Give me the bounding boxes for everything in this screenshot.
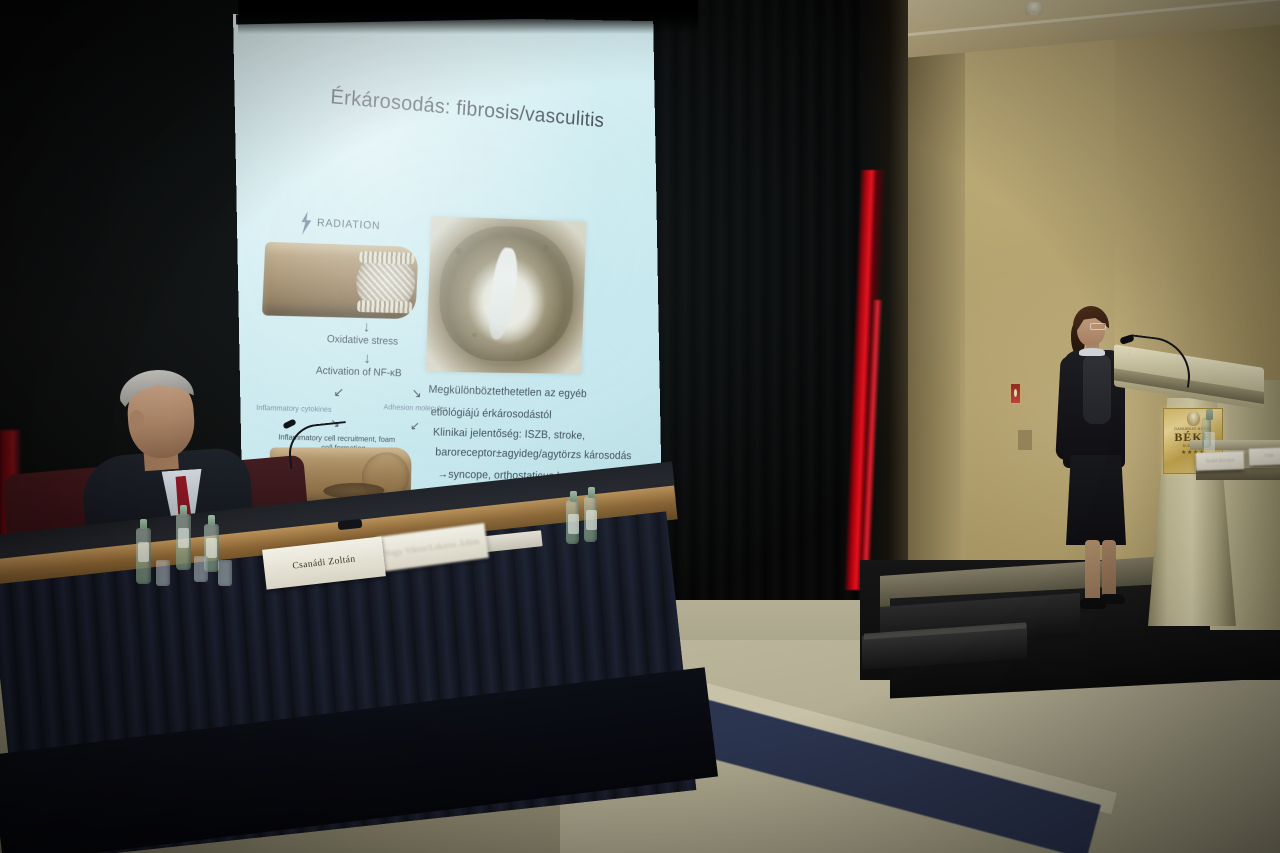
flow-step-nfkb: Activation of NF-κB xyxy=(316,365,402,380)
nameplate-side-left: Szabó Kovács xyxy=(1196,451,1245,471)
wall-fixture xyxy=(1018,430,1032,450)
tissue-texture xyxy=(426,216,587,374)
slide-body-line-3: Klinikai jelentőség: ISZB, stroke, xyxy=(433,427,586,442)
slide-title: Érkárosodás: fibrosis/vasculitis xyxy=(330,85,634,135)
vessel-band xyxy=(359,251,414,265)
water-bottle xyxy=(584,496,597,542)
drinking-glass xyxy=(194,556,208,582)
flow-arrow-down-left: ↙ xyxy=(333,384,344,400)
flow-arrow-down3: ↙ xyxy=(410,419,420,433)
drinking-glass xyxy=(218,560,232,586)
emergency-sign-icon xyxy=(1010,383,1021,404)
speaker-leg-right xyxy=(1102,540,1116,602)
vessel-band xyxy=(357,300,412,313)
water-bottle xyxy=(566,500,579,544)
conference-room-photo: Érkárosodás: fibrosis/vasculitis RADIATI… xyxy=(0,0,1280,853)
speaker-shoe-right xyxy=(1100,594,1125,604)
drinking-glass xyxy=(156,560,170,586)
speaker-inner-top xyxy=(1083,354,1111,424)
water-bottle xyxy=(176,514,191,570)
water-bottle xyxy=(1202,418,1211,448)
flow-arrow-down-right: ↘ xyxy=(411,386,422,402)
histology-micrograph xyxy=(426,216,587,374)
slide-body-line-4: baroreceptor±agyideg/agytörzs károsodás xyxy=(435,447,632,463)
sprinkler-icon xyxy=(1025,2,1043,15)
glasses-icon xyxy=(1090,323,1106,330)
slide-body-line-1: Megkülönböztethetetlen az egyéb xyxy=(428,384,587,400)
radiation-label: RADIATION xyxy=(317,217,381,232)
screen-top-shadow xyxy=(238,0,698,34)
speaker-skirt xyxy=(1066,455,1126,545)
flow-step-oxidative-stress: Oxidative stress xyxy=(327,333,399,347)
flow-arrow-down: ↓ xyxy=(363,350,371,367)
vessel-illustration-top xyxy=(262,242,419,319)
hotel-emblem-icon xyxy=(1187,411,1200,426)
lightning-bolt-icon xyxy=(299,211,313,235)
speaker-collar xyxy=(1079,348,1105,356)
water-bottle xyxy=(136,528,151,584)
slide-body-line-2: etiológiájú érkárosodástól xyxy=(431,406,552,421)
flow-arrow-down: ↓ xyxy=(363,319,371,336)
nameplate-side-right: Tóth xyxy=(1249,447,1280,465)
speaker-leg-left xyxy=(1085,540,1100,606)
flow-step-cytokines: Inflammatory cytokines xyxy=(256,403,332,414)
